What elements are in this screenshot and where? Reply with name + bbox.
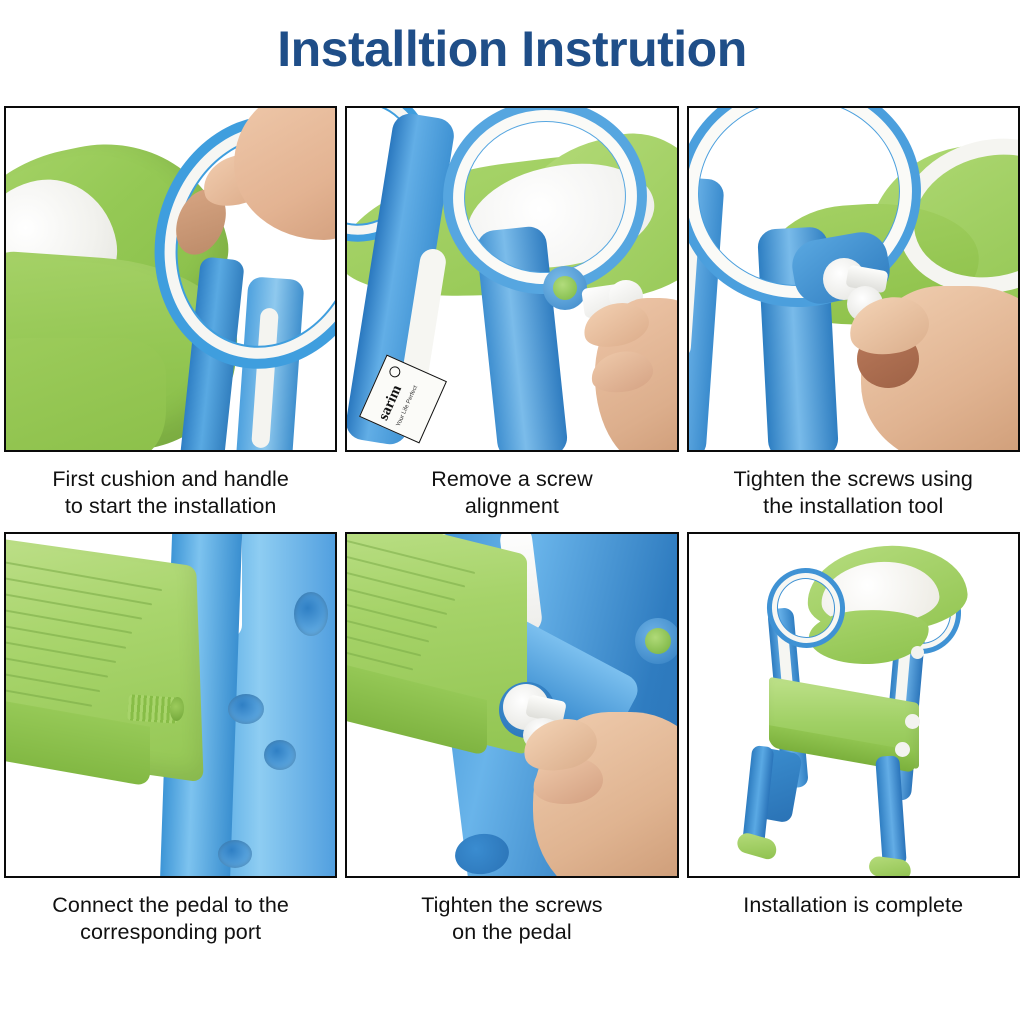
step-caption-2: Remove a screw alignment xyxy=(345,452,678,520)
green-lower-shape xyxy=(4,338,166,452)
illustration-remove-screw: sarim Your Life Perfect xyxy=(347,108,676,450)
illustration-tighten-screws-tool xyxy=(689,108,1018,450)
frame-dot-2 xyxy=(905,714,920,729)
step-image-5 xyxy=(345,532,678,878)
step-image-3 xyxy=(687,106,1020,452)
page-title: Installtion Instrution xyxy=(0,18,1024,80)
illustration-cushion-handle xyxy=(6,108,335,450)
leg-hole-2 xyxy=(228,694,264,724)
infographic-page: Installtion Instrution xyxy=(0,0,1024,1024)
brand-mark-icon xyxy=(388,365,403,380)
step-image-6 xyxy=(687,532,1020,878)
caption-line-2: the installation tool xyxy=(687,493,1020,520)
steps-grid: First cushion and handle to start the in… xyxy=(0,106,1024,946)
green-pivot-button-shape xyxy=(543,266,587,310)
step-card-1: First cushion and handle to start the in… xyxy=(0,106,341,520)
illustration-connect-pedal xyxy=(6,534,335,876)
green-screw-cap-shape xyxy=(635,618,678,664)
step-card-5: Tighten the screws on the pedal xyxy=(341,532,682,946)
step-caption-3: Tighten the screws using the installatio… xyxy=(687,452,1020,520)
step-card-2: sarim Your Life Perfect Remove a screw a… xyxy=(341,106,682,520)
step-caption-6: Installation is complete xyxy=(687,878,1020,919)
step-image-2: sarim Your Life Perfect xyxy=(345,106,678,452)
step-caption-4: Connect the pedal to the corresponding p… xyxy=(4,878,337,946)
green-foot-left-shape xyxy=(735,831,779,861)
caption-line-1: Connect the pedal to the xyxy=(4,892,337,919)
caption-line-2: alignment xyxy=(345,493,678,520)
caption-line-1: Tighten the screws using xyxy=(687,466,1020,493)
caption-line-2: corresponding port xyxy=(4,919,337,946)
caption-line-1: First cushion and handle xyxy=(4,466,337,493)
caption-line-2: to start the installation xyxy=(4,493,337,520)
caption-line-1: Remove a screw xyxy=(345,466,678,493)
leg-hole-3 xyxy=(264,740,296,770)
steps-row-1: First cushion and handle to start the in… xyxy=(0,106,1024,520)
caption-line-1: Tighten the screws xyxy=(345,892,678,919)
illustration-tighten-pedal-screws xyxy=(347,534,676,876)
step-card-3: Tighten the screws using the installatio… xyxy=(683,106,1024,520)
illustration-complete-product xyxy=(689,534,1018,876)
frame-dot-1 xyxy=(911,646,924,659)
caption-line-2: on the pedal xyxy=(345,919,678,946)
frame-dot-3 xyxy=(895,742,910,757)
caption-line-1: Installation is complete xyxy=(687,892,1020,919)
step-card-4: Connect the pedal to the corresponding p… xyxy=(0,532,341,946)
step-image-4 xyxy=(4,532,337,878)
step-card-6: Installation is complete xyxy=(683,532,1024,946)
steps-row-2: Connect the pedal to the corresponding p… xyxy=(0,532,1024,946)
step-caption-1: First cushion and handle to start the in… xyxy=(4,452,337,520)
leg-hole-1 xyxy=(294,592,328,636)
leg-hole-4 xyxy=(218,840,252,868)
step-image-1 xyxy=(4,106,337,452)
step-caption-5: Tighten the screws on the pedal xyxy=(345,878,678,946)
